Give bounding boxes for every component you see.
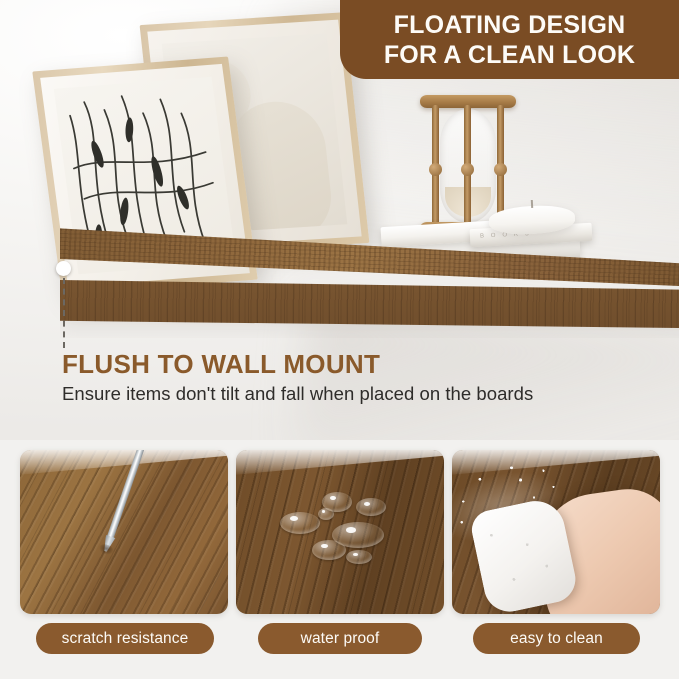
droplet-glint — [364, 502, 370, 506]
callout-subtext: Ensure items don't tilt and fall when pl… — [62, 383, 533, 405]
droplet-glint — [353, 553, 358, 556]
callout-dashed-leader-line — [63, 278, 65, 348]
water-droplet — [318, 508, 334, 520]
post-knob — [429, 163, 442, 176]
hourglass-post — [464, 105, 471, 227]
droplet-glint — [321, 544, 328, 548]
water-droplet — [280, 512, 320, 534]
badge-water-proof: water proof — [258, 623, 422, 654]
droplet-glint — [290, 516, 298, 521]
droplet-glint — [346, 527, 356, 533]
hourglass-post — [497, 105, 504, 227]
droplet-glint — [322, 510, 325, 513]
feature-panels-row: scratch resistance water proof easy to c… — [0, 440, 679, 679]
hourglass-post — [432, 105, 439, 227]
water-droplet — [346, 550, 372, 564]
floating-wood-shelf — [60, 226, 679, 346]
shelf-top-surface — [60, 226, 679, 286]
droplet-glint — [330, 496, 336, 500]
product-feature-image: B O O K S FLOATING DESIGN — [0, 0, 679, 679]
badge-scratch-resistance: scratch resistance — [36, 623, 214, 654]
water-droplet — [356, 498, 386, 516]
feature-panel-scratch — [20, 450, 228, 614]
badge-easy-to-clean: easy to clean — [473, 623, 640, 654]
water-droplet — [312, 540, 346, 560]
feature-panel-water — [236, 450, 444, 614]
mount-point-dot-icon — [56, 261, 71, 276]
headline-line-1: FLOATING DESIGN — [394, 10, 626, 40]
callout-heading: FLUSH TO WALL MOUNT — [62, 349, 380, 380]
post-knob — [461, 163, 474, 176]
post-knob — [494, 163, 507, 176]
feature-panel-clean — [452, 450, 660, 614]
headline-line-2: FOR A CLEAN LOOK — [384, 40, 635, 70]
headline-banner: FLOATING DESIGN FOR A CLEAN LOOK — [340, 0, 679, 79]
